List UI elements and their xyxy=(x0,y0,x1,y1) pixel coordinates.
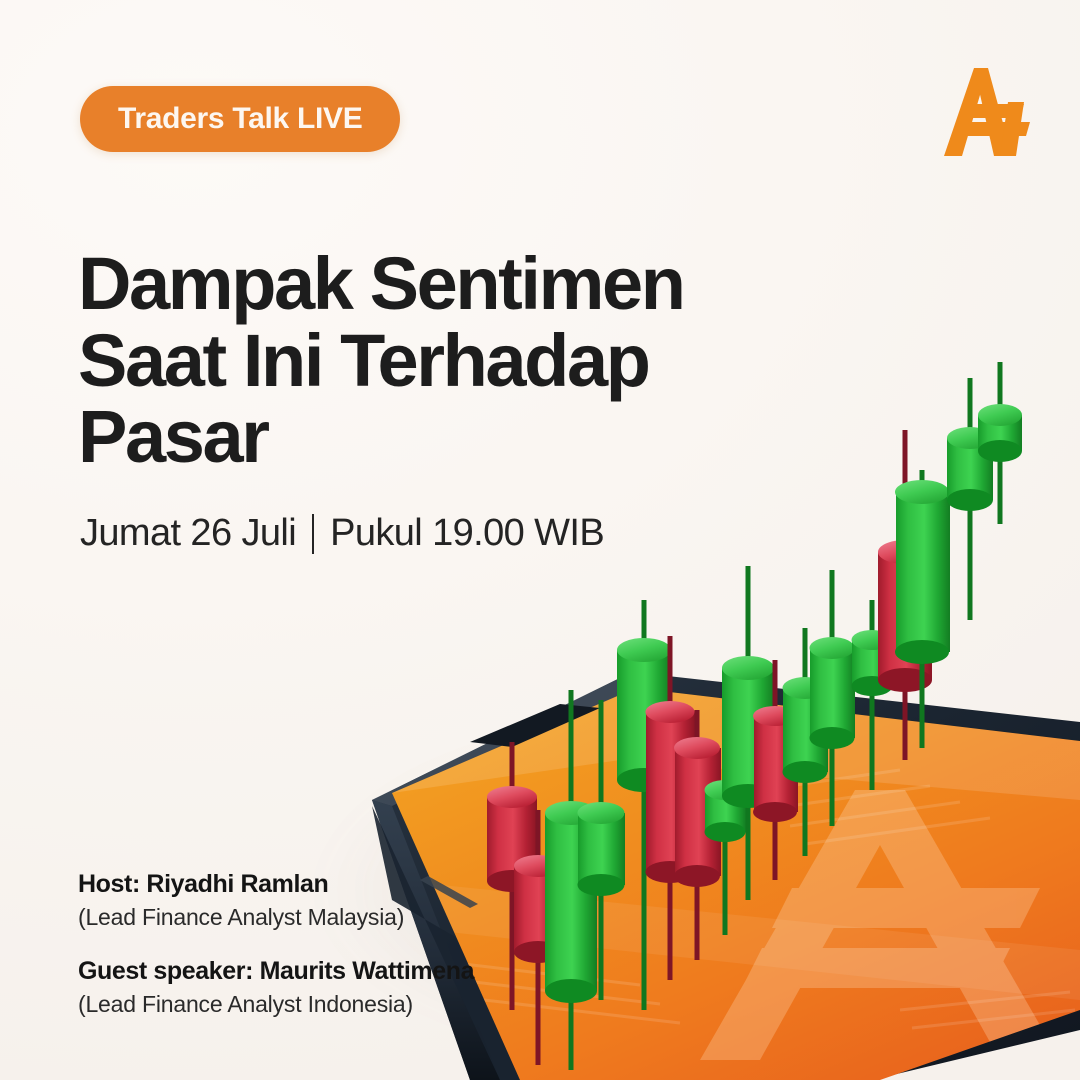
credit-guest-speaker: Guest speaker: Maurits Wattimena (Lead F… xyxy=(78,957,474,1018)
brand-logo-a-icon xyxy=(934,62,1038,162)
headline-line-2: Saat Ini Terhadap xyxy=(78,323,798,400)
headline-line-3: Pasar xyxy=(78,399,798,476)
page-title: Dampak Sentimen Saat Ini Terhadap Pasar xyxy=(78,246,798,477)
host-role: (Lead Finance Analyst Malaysia) xyxy=(78,904,474,931)
event-schedule: Jumat 26 Juli Pukul 19.00 WIB xyxy=(80,512,604,555)
speaker-credits: Host: Riyadhi Ramlan (Lead Finance Analy… xyxy=(78,870,474,1018)
live-badge: Traders Talk LIVE xyxy=(80,86,400,152)
headline-line-1: Dampak Sentimen xyxy=(78,246,798,323)
guest-speaker-name: Guest speaker: Maurits Wattimena xyxy=(78,957,474,986)
credit-host: Host: Riyadhi Ramlan (Lead Finance Analy… xyxy=(78,870,474,931)
event-date: Jumat 26 Juli xyxy=(80,512,296,555)
live-badge-label: Traders Talk LIVE xyxy=(118,102,362,136)
promo-poster: Traders Talk LIVE Dampak Sentimen Saat I… xyxy=(0,0,1080,1080)
guest-speaker-role: (Lead Finance Analyst Indonesia) xyxy=(78,991,474,1018)
schedule-separator xyxy=(312,514,314,554)
host-name: Host: Riyadhi Ramlan xyxy=(78,870,474,899)
event-time: Pukul 19.00 WIB xyxy=(330,512,604,555)
